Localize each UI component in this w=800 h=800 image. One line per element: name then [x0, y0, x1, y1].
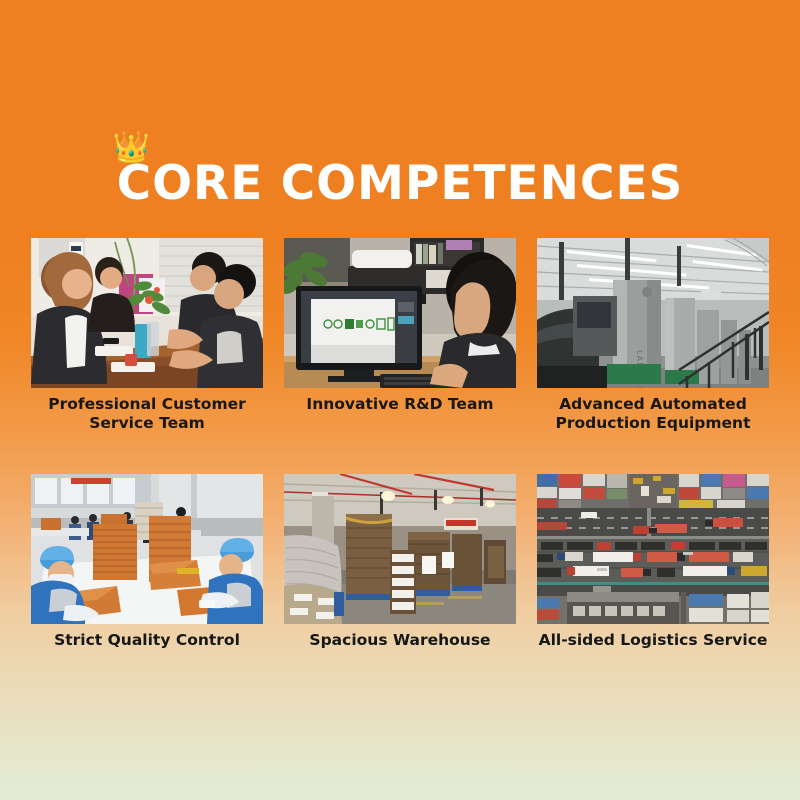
caption-label: Innovative R&D Team [284, 395, 516, 414]
competence-card: Strict Quality Control [31, 474, 263, 650]
competence-card: All-sided Logistics Service [537, 474, 769, 650]
page-title: CORE COMPETENCES [117, 160, 684, 207]
competence-card: Professional Customer Service Team [31, 238, 263, 433]
design-workstation-photo [284, 238, 516, 388]
competence-card: Innovative R&D Team [284, 238, 516, 433]
caption-label: All-sided Logistics Service [537, 631, 769, 650]
competence-card: LAND 800 [537, 238, 769, 433]
printing-press-photo: LAND 800 [537, 238, 769, 388]
crown-icon: 👑 [113, 133, 150, 163]
caption-label: Spacious Warehouse [284, 631, 516, 650]
warehouse-photo [284, 474, 516, 624]
logistics-aerial-photo [537, 474, 769, 624]
caption-label: Professional Customer Service Team [31, 395, 263, 433]
title-wrap: 👑 CORE COMPETENCES [117, 160, 684, 207]
caption-label: Advanced Automated Production Equipment [537, 395, 769, 433]
quality-inspection-photo [31, 474, 263, 624]
competence-card: Spacious Warehouse [284, 474, 516, 650]
poster-root: 👑 CORE COMPETENCES [0, 0, 800, 800]
title-block: 👑 CORE COMPETENCES [0, 160, 800, 207]
meeting-room-photo [31, 238, 263, 388]
caption-label: Strict Quality Control [31, 631, 263, 650]
competence-grid: Professional Customer Service Team [31, 238, 769, 650]
